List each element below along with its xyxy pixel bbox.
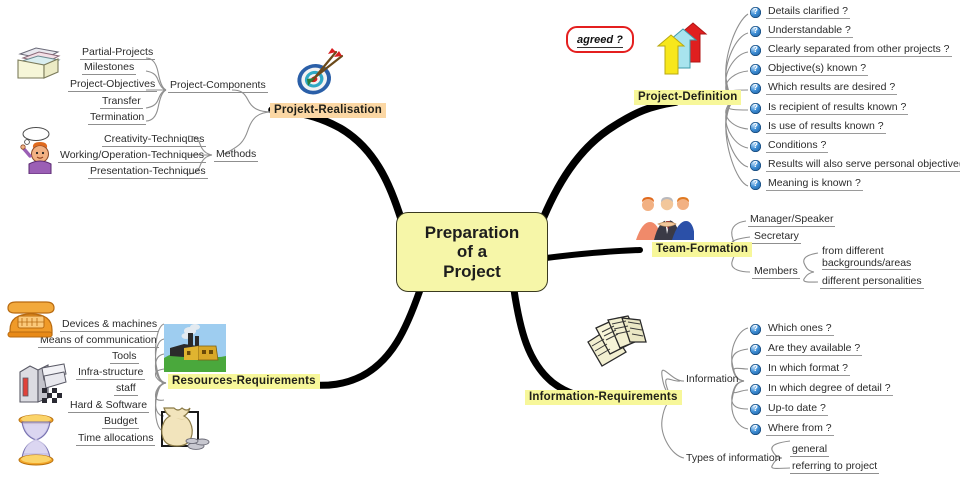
sub-label-staff[interactable]: staff — [114, 382, 138, 396]
question-label: Is recipient of results known ? — [766, 101, 908, 115]
question-icon — [750, 122, 761, 133]
mind-map-canvas: Preparation of a Project agreed ? Projek… — [0, 0, 960, 477]
from-different-line-1: from different — [822, 245, 884, 257]
newspapers-icon — [582, 308, 652, 376]
hourglass-icon — [14, 414, 58, 466]
question-item[interactable]: Up-to date ? — [750, 402, 828, 416]
question-item[interactable]: Meaning is known ? — [750, 177, 863, 191]
question-label: In which format ? — [766, 362, 850, 376]
sub-label-referring-to-project[interactable]: referring to project — [790, 460, 879, 474]
root-line-1: Preparation — [425, 223, 519, 243]
question-icon — [750, 160, 761, 171]
question-item[interactable]: Is use of results known ? — [750, 120, 886, 134]
sub-label-project-objectives[interactable]: Project-Objectives — [68, 78, 157, 92]
branch-line-resources-requirements — [312, 290, 420, 385]
sub-label-project-components[interactable]: Project-Components — [168, 79, 268, 93]
question-label: Understandable ? — [766, 24, 853, 38]
question-icon — [750, 324, 761, 335]
agreed-callout-label: agreed ? — [577, 34, 623, 48]
question-label: Are they available ? — [766, 342, 862, 356]
question-label: Where from ? — [766, 422, 834, 436]
question-icon — [750, 64, 761, 75]
question-label: Results will also serve personal objecti… — [766, 158, 960, 172]
question-label: Objective(s) known ? — [766, 62, 868, 76]
sub-label-presentation-techniques[interactable]: Presentation-Techniques — [88, 165, 208, 179]
question-item[interactable]: Where from ? — [750, 422, 834, 436]
target-icon — [292, 48, 348, 100]
agreed-callout[interactable]: agreed ? — [566, 26, 634, 53]
sub-label-manager-speaker[interactable]: Manager/Speaker — [748, 213, 835, 227]
question-label: Details clarified ? — [766, 5, 850, 19]
thinking-person-icon — [12, 126, 60, 174]
question-label: Which results are desired ? — [766, 81, 897, 95]
question-item[interactable]: Understandable ? — [750, 24, 853, 38]
question-icon — [750, 384, 761, 395]
factory-icon — [164, 324, 226, 372]
sub-label-secretary[interactable]: Secretary — [752, 230, 801, 244]
from-different-line-2: backgrounds/areas — [822, 257, 911, 270]
branch-label-information-requirements[interactable]: Information-Requirements — [525, 390, 682, 405]
folder-icon — [14, 42, 62, 82]
question-icon — [750, 179, 761, 190]
sub-label-information[interactable]: Information — [684, 373, 741, 386]
sub-label-transfer[interactable]: Transfer — [100, 95, 143, 109]
question-icon — [750, 103, 761, 114]
branch-line-projekt-realisation — [272, 110, 404, 228]
question-label: Meaning is known ? — [766, 177, 863, 191]
question-label: Conditions ? — [766, 139, 828, 153]
branch-label-team-formation[interactable]: Team-Formation — [652, 242, 752, 257]
root-node[interactable]: Preparation of a Project — [396, 212, 548, 292]
branch-line-team-formation — [546, 250, 640, 258]
question-label: Is use of results known ? — [766, 120, 886, 134]
question-label: In which degree of detail ? — [766, 382, 893, 396]
question-icon — [750, 141, 761, 152]
sub-label-members[interactable]: Members — [752, 265, 800, 279]
question-icon — [750, 26, 761, 37]
sub-label-working-operation-techniques[interactable]: Working/Operation-Techniques — [58, 149, 206, 163]
machines-icon — [14, 358, 68, 408]
question-icon — [750, 45, 761, 56]
handshake-people-icon — [634, 196, 694, 240]
question-item[interactable]: Is recipient of results known ? — [750, 101, 908, 115]
sub-label-infra-structure[interactable]: Infra-structure — [76, 366, 145, 380]
telephone-icon — [6, 300, 56, 340]
money-bag-icon — [152, 400, 212, 456]
branch-label-resources-requirements[interactable]: Resources-Requirements — [168, 374, 320, 389]
root-line-3: Project — [425, 262, 519, 282]
question-item[interactable]: Are they available ? — [750, 342, 862, 356]
sub-label-means-of-communication[interactable]: Means of communication — [38, 334, 159, 348]
question-icon — [750, 83, 761, 94]
sub-label-creativity-techniques[interactable]: Creativity-Techniques — [102, 133, 206, 147]
sub-label-different-personalities[interactable]: different personalities — [820, 275, 924, 289]
sub-label-budget[interactable]: Budget — [102, 415, 139, 429]
question-item[interactable]: In which degree of detail ? — [750, 382, 893, 396]
sub-label-types-of-information[interactable]: Types of information — [684, 452, 783, 465]
sub-label-time-allocations[interactable]: Time allocations — [76, 432, 155, 446]
question-item[interactable]: Results will also serve personal objecti… — [750, 158, 960, 172]
branch-label-projekt-realisation[interactable]: Projekt-Realisation — [270, 103, 386, 118]
sub-label-devices-machines[interactable]: Devices & machines — [60, 318, 159, 332]
question-icon — [750, 344, 761, 355]
question-icon — [750, 424, 761, 435]
arrows-icon — [650, 22, 712, 80]
question-item[interactable]: Which results are desired ? — [750, 81, 897, 95]
sub-label-general[interactable]: general — [790, 443, 829, 457]
question-item[interactable]: Objective(s) known ? — [750, 62, 868, 76]
question-label: Up-to date ? — [766, 402, 828, 416]
question-item[interactable]: In which format ? — [750, 362, 850, 376]
question-label: Which ones ? — [766, 322, 834, 336]
sub-label-hard-software[interactable]: Hard & Software — [68, 399, 149, 413]
question-icon — [750, 7, 761, 18]
sub-label-termination[interactable]: Termination — [88, 111, 146, 125]
question-item[interactable]: Conditions ? — [750, 139, 828, 153]
question-label: Clearly separated from other projects ? — [766, 43, 952, 57]
question-item[interactable]: Details clarified ? — [750, 5, 850, 19]
sub-label-milestones[interactable]: Milestones — [82, 61, 136, 75]
question-icon — [750, 364, 761, 375]
question-item[interactable]: Which ones ? — [750, 322, 834, 336]
question-icon — [750, 404, 761, 415]
sub-label-from-different-backgrounds[interactable]: from different backgrounds/areas — [820, 246, 928, 271]
root-line-2: of a — [425, 242, 519, 262]
branch-label-project-definition[interactable]: Project-Definition — [634, 90, 741, 105]
question-item[interactable]: Clearly separated from other projects ? — [750, 43, 952, 57]
sub-label-tools[interactable]: Tools — [110, 350, 139, 364]
sub-label-methods[interactable]: Methods — [214, 148, 258, 162]
sub-label-partial-projects[interactable]: Partial-Projects — [80, 46, 155, 60]
